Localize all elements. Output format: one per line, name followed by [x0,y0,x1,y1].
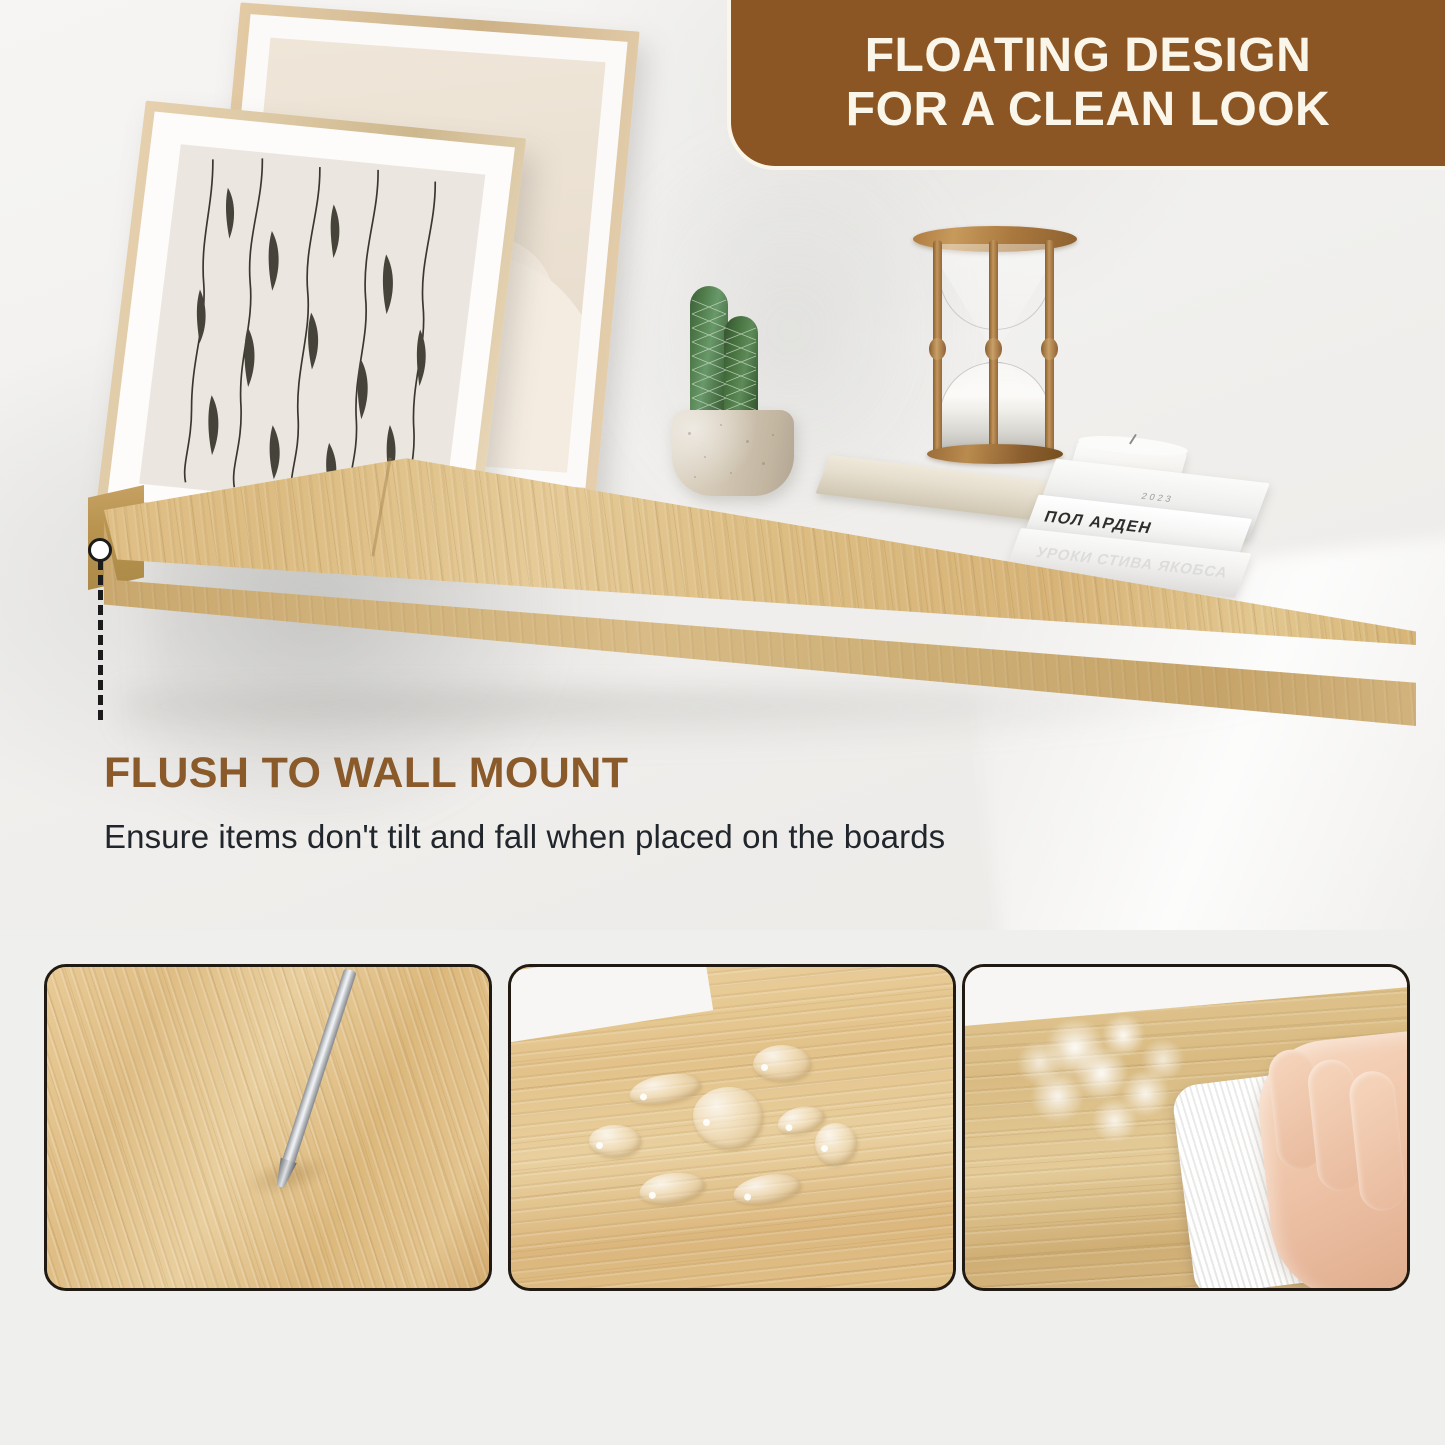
flush-mount-subtitle: Ensure items don't tilt and fall when pl… [104,820,1364,853]
hourglass-post [989,240,998,454]
flush-mount-marker-dot [88,538,112,562]
mid-text-block: FLUSH TO WALL MOUNT Ensure items don't t… [104,752,1364,853]
floating-shelf [0,440,1445,740]
banner-headline-line1: FLOATING DESIGN [865,29,1312,83]
water-droplet [753,1045,811,1081]
scratch-resistance-panel [44,964,492,1291]
shelf-drop-shadow [120,690,1300,750]
hourglass-post [1045,240,1054,454]
product-marketing-image: 2023 ПОЛ АРДЕН УРОКИ СТИВА ЯКОБСА FLOATI… [0,0,1445,1445]
header-banner: FLOATING DESIGN FOR A CLEAN LOOK [727,0,1445,170]
flush-mount-dashed-line [98,560,103,720]
feature-panels-section: scratch resistance water proof easy to c… [0,930,1445,1445]
screwdriver-tip [272,1158,297,1190]
banner-headline-line2: FOR A CLEAN LOOK [846,83,1330,137]
wood-surface-texture [47,967,489,1288]
water-proof-panel [508,964,956,1291]
flush-mount-heading: FLUSH TO WALL MOUNT [104,752,1364,795]
hourglass-post [933,240,942,454]
easy-to-clean-panel [962,964,1410,1291]
finger [1347,1069,1407,1213]
water-droplet [589,1125,641,1157]
